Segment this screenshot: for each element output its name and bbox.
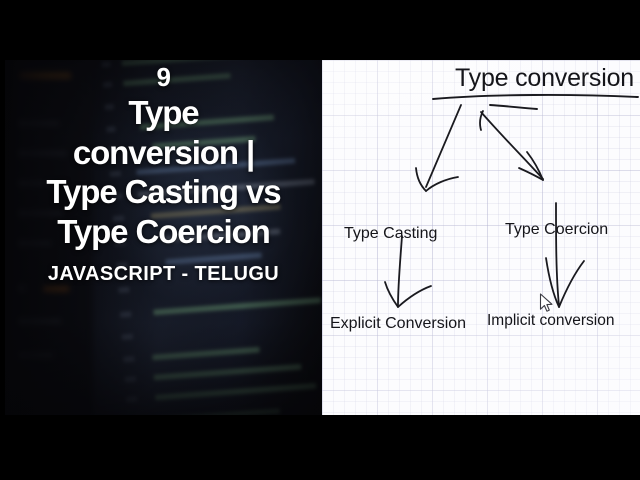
thumbnail-text-overlay: 9 Type conversion | Type Casting vs Type… bbox=[5, 60, 322, 415]
arrow-to-type-casting-shaft bbox=[426, 105, 461, 187]
arrow-to-explicit-head-right bbox=[398, 286, 431, 307]
screenshot-root: 9 Type conversion | Type Casting vs Type… bbox=[0, 0, 640, 480]
arrow-to-explicit-shaft bbox=[398, 236, 402, 305]
arrow-to-implicit-shaft bbox=[556, 203, 559, 306]
content-band: 9 Type conversion | Type Casting vs Type… bbox=[0, 58, 640, 418]
thumbnail-title-line-1: Type bbox=[46, 93, 280, 133]
arrow-to-type-casting-head-left bbox=[416, 168, 426, 191]
thumbnail-title: Type conversion | Type Casting vs Type C… bbox=[46, 93, 280, 251]
diagram-node-type-coercion: Type Coercion bbox=[505, 221, 608, 239]
diagram-title: Type conversion bbox=[455, 64, 634, 93]
arrow-to-implicit-head-right bbox=[559, 261, 584, 307]
thumbnail-episode-number: 9 bbox=[157, 64, 171, 91]
arrow-to-type-coercion-tail-barb bbox=[480, 111, 483, 130]
title-underline-stroke bbox=[433, 95, 638, 99]
mouse-pointer-cursor bbox=[539, 293, 555, 315]
diagram-node-type-casting: Type Casting bbox=[344, 225, 437, 243]
diagram-node-explicit-conversion: Explicit Conversion bbox=[330, 315, 466, 333]
thumbnail-subtitle: JAVASCRIPT - TELUGU bbox=[48, 263, 279, 286]
arrow-to-explicit-head-left bbox=[385, 282, 398, 307]
arrow-to-type-casting-head-right bbox=[426, 177, 458, 191]
thumbnail-title-line-3: Type Casting vs bbox=[46, 172, 280, 212]
thumbnail-title-line-4: Type Coercion bbox=[46, 212, 280, 252]
whiteboard-panel[interactable]: Type conversion Type Casting Type Coerci… bbox=[322, 58, 640, 418]
arrow-to-type-coercion-shaft bbox=[481, 112, 543, 179]
thumbnail-title-line-2: conversion | bbox=[46, 133, 280, 173]
video-thumbnail-panel[interactable]: 9 Type conversion | Type Casting vs Type… bbox=[0, 58, 322, 418]
title-underline-stroke-2 bbox=[490, 105, 537, 109]
